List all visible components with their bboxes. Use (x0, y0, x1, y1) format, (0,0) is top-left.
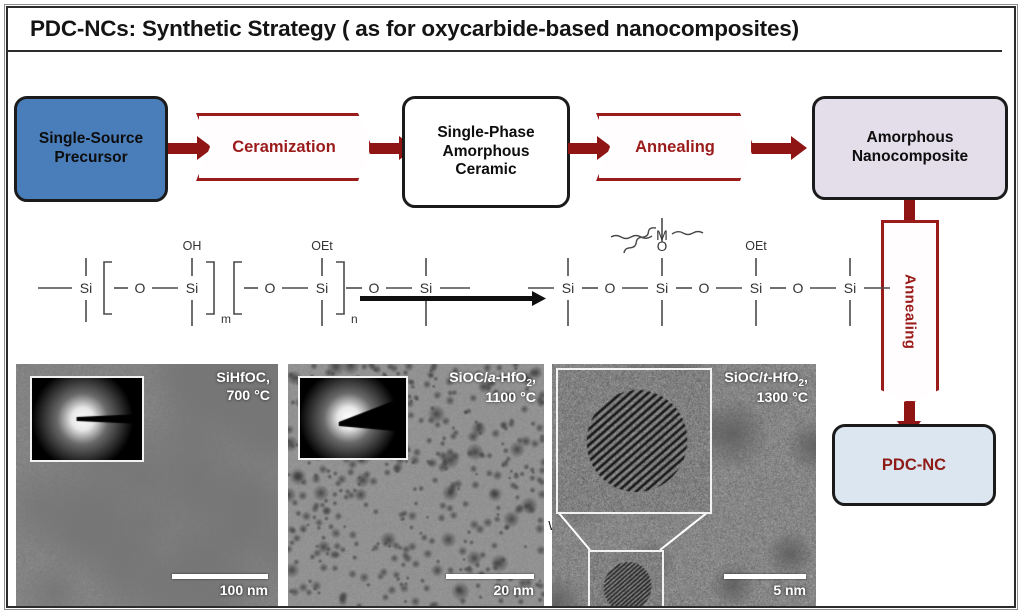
scale-bar-group-1: 100 nm (172, 574, 268, 598)
svg-text:O: O (135, 280, 146, 296)
flow-box-label: Single-Phase Amorphous Ceramic (431, 124, 540, 181)
tem-composition-1: SiHfOC, (216, 370, 270, 386)
amorphous-line-2: Nanocomposite (852, 148, 968, 165)
svg-text:OH: OH (183, 239, 202, 253)
squiggle-bond-right (672, 232, 703, 235)
tem-label-1: SiHfOC, 700 °C (216, 370, 270, 406)
scale-bar-1 (172, 574, 268, 579)
scale-bar-label-1: 100 nm (172, 582, 268, 598)
svg-text:O: O (793, 280, 804, 296)
process-banner-ceramization: Ceramization (196, 113, 372, 181)
saed-inset-1 (30, 376, 144, 462)
precursor-line-1: Single-Source (39, 130, 143, 147)
scale-bar-group-2: 20 nm (446, 574, 534, 598)
saed-pattern-2 (300, 378, 406, 458)
svg-text:Si: Si (750, 280, 762, 296)
svg-text:O: O (369, 280, 380, 296)
flow-box-label: Amorphous Nanocomposite (846, 129, 974, 167)
pdcnc-label: PDC-NC (876, 455, 952, 475)
tem-temperature-3: 1300 °C (757, 390, 808, 406)
tem-panel-sioc-a-hfo2: SiOC/a-HfO2, 1100 °C 20 nm (288, 364, 544, 606)
metal-atom-label: M (656, 227, 668, 243)
scale-bar-2 (446, 574, 534, 579)
arrow-ceramic-to-annealing (568, 143, 598, 154)
svg-text:Si: Si (844, 280, 856, 296)
arrow-annealing-to-nanocomposite (752, 143, 792, 154)
flow-box-single-source-precursor: Single-Source Precursor (14, 96, 168, 202)
chemistry-scheme: Si O Si OH m O Si (0, 218, 1024, 368)
svg-text:O: O (265, 280, 276, 296)
annealing-label: Annealing (635, 138, 715, 157)
tem-temperature-1: 700 °C (226, 388, 270, 404)
svg-text:O: O (605, 280, 616, 296)
svg-text:Si: Si (420, 280, 432, 296)
chemical-structures-svg: Si O Si OH m O Si (0, 218, 1024, 368)
flow-box-pdc-nc: PDC-NC (832, 424, 996, 506)
saed-inset-2 (298, 376, 408, 460)
precursor-line-2: Precursor (54, 149, 127, 166)
svg-text:m: m (221, 312, 231, 326)
svg-text:Si: Si (316, 280, 328, 296)
metal-center-squiggles-svg: M (586, 188, 736, 268)
process-banner-annealing: Annealing (596, 113, 754, 181)
scale-bar-label-2: 20 nm (446, 582, 534, 598)
tem-label-3: SiOC/t-HfO2, 1300 °C (724, 370, 808, 408)
arrow-precursor-to-ceramization (168, 143, 198, 154)
svg-text:Si: Si (656, 280, 668, 296)
svg-text:Si: Si (562, 280, 574, 296)
lattice-fringe-image-3 (558, 370, 710, 512)
ceramic-line-2: Amorphous (443, 143, 530, 160)
hrtem-inset-3 (556, 368, 712, 514)
svg-text:Si: Si (186, 280, 198, 296)
svg-text:O: O (699, 280, 710, 296)
ceramization-label: Ceramization (232, 138, 336, 157)
arrow-to-pdc-nc (904, 402, 915, 422)
amorphous-line-1: Amorphous (867, 129, 954, 146)
saed-pattern-1 (32, 378, 142, 460)
svg-text:n: n (351, 312, 358, 326)
scale-bar-label-3: 5 nm (724, 582, 806, 598)
scale-bar-group-3: 5 nm (724, 574, 806, 598)
ceramic-line-3: Ceramic (455, 161, 516, 178)
tem-panel-sihfoc: SiHfOC, 700 °C 100 nm (16, 364, 278, 606)
reaction-arrow (360, 291, 546, 306)
flow-box-label: Single-Source Precursor (33, 130, 149, 168)
arrow-ceramization-to-ceramic (370, 143, 400, 154)
flow-box-amorphous-nanocomposite: Amorphous Nanocomposite (812, 96, 1008, 200)
title-bar: PDC-NCs: Synthetic Strategy ( as for oxy… (8, 8, 1002, 52)
svg-text:OEt: OEt (311, 239, 333, 253)
ceramic-line-1: Single-Phase (437, 124, 534, 141)
tem-panel-sioc-t-hfo2: SiOC/t-HfO2, 1300 °C 5 nm (552, 364, 816, 606)
hrtem-source-region-3 (588, 550, 664, 606)
flow-box-single-phase-amorphous-ceramic: Single-Phase Amorphous Ceramic (402, 96, 570, 208)
scale-bar-3 (724, 574, 806, 579)
svg-text:Si: Si (80, 280, 92, 296)
nanocrystal-region-3 (590, 552, 662, 606)
squiggle-bond-up (623, 222, 656, 257)
tem-label-2: SiOC/a-HfO2, 1100 °C (449, 370, 536, 408)
tem-temperature-2: 1100 °C (485, 390, 536, 406)
figure-root: PDC-NCs: Synthetic Strategy ( as for oxy… (0, 0, 1024, 616)
svg-text:OEt: OEt (745, 239, 767, 253)
page-title: PDC-NCs: Synthetic Strategy ( as for oxy… (8, 16, 799, 42)
